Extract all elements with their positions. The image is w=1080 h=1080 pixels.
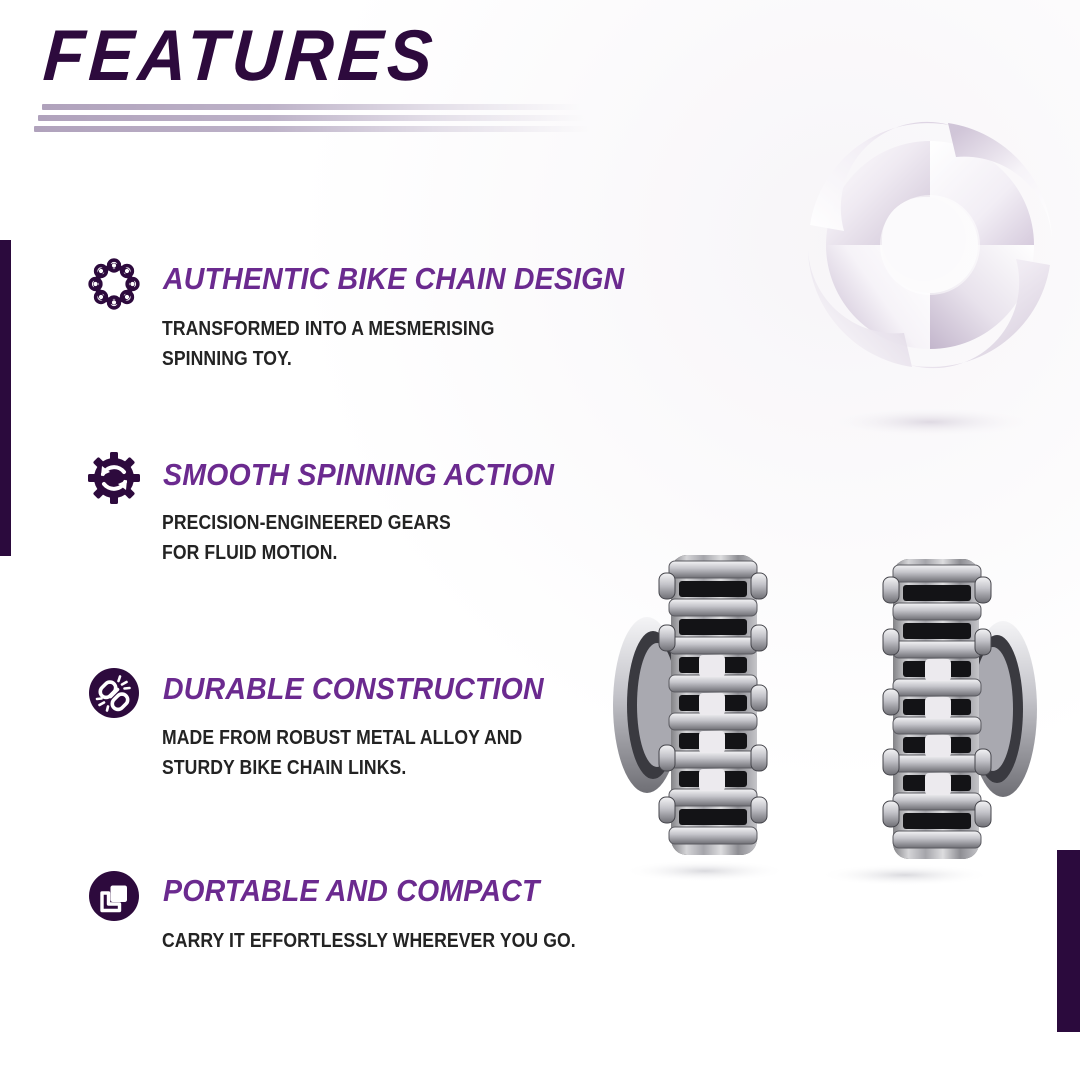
title-rule-3 — [34, 126, 590, 132]
title-rule-1 — [42, 104, 582, 110]
title-underline-rules — [34, 104, 594, 136]
feature-body: PRECISION-ENGINEERED GEARS FOR FLUID MOT… — [162, 508, 451, 568]
title-rule-2 — [38, 115, 586, 121]
header: FEATURES — [0, 0, 1080, 160]
bike-chain-spinner-pair-photo — [575, 515, 1075, 905]
feature-poster: FEATURES — [0, 0, 1080, 1080]
feature-title: PORTABLE AND COMPACT — [163, 874, 540, 908]
feature-body: TRANSFORMED INTO A MESMERISING SPINNING … — [162, 314, 494, 374]
left-accent-bar — [0, 240, 11, 556]
right-accent-bar — [1057, 850, 1080, 1032]
page-title: FEATURES — [41, 20, 439, 92]
feature-body: CARRY IT EFFORTLESSLY WHEREVER YOU GO. — [162, 926, 576, 956]
compact-resize-icon — [88, 870, 140, 922]
feature-title: SMOOTH SPINNING ACTION — [163, 458, 554, 492]
gear-rotation-icon — [88, 452, 140, 504]
feature-title: DURABLE CONSTRUCTION — [163, 672, 544, 706]
bike-chain-ring-icon — [88, 258, 140, 310]
feature-title: AUTHENTIC BIKE CHAIN DESIGN — [163, 262, 624, 296]
unbreakable-chain-link-icon — [88, 667, 140, 719]
feature-body: MADE FROM ROBUST METAL ALLOY AND STURDY … — [162, 723, 522, 783]
